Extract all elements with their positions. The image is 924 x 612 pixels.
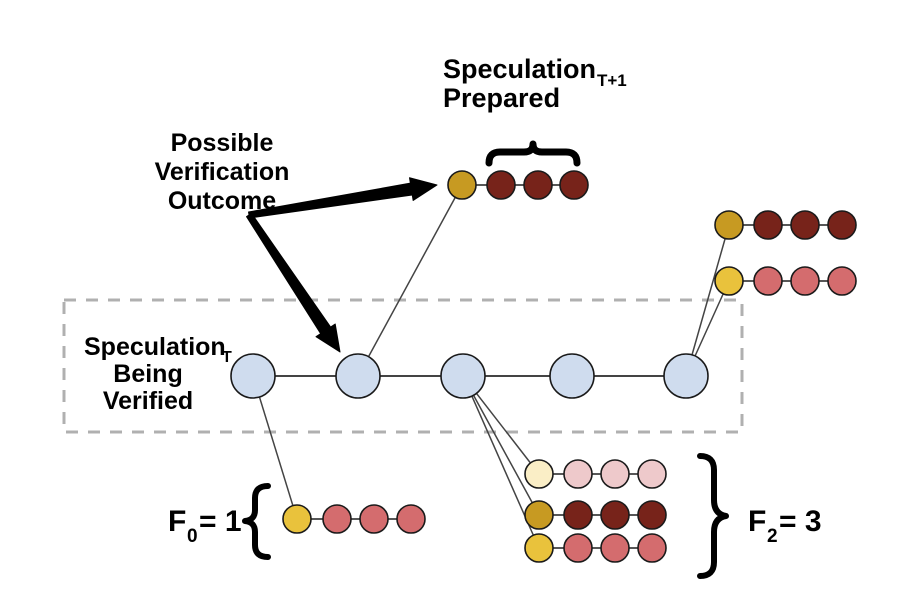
token-node[interactable]	[601, 534, 629, 562]
f0-subscript: 0	[187, 526, 198, 547]
speculation-verified-line3: Verified	[103, 387, 193, 415]
label-possible-verification-outcome: Possible Verification Outcome	[155, 129, 290, 215]
f2-value: = 3	[779, 505, 822, 538]
speculation-prepared-subscript: T+1	[597, 71, 627, 90]
speculative-decoding-tree-diagram: Speculation T+1 Prepared Possible Verifi…	[0, 0, 924, 612]
token-node[interactable]	[397, 505, 425, 533]
token-node[interactable]	[524, 171, 552, 199]
verified-token-node[interactable]	[664, 354, 708, 398]
token-node[interactable]	[638, 534, 666, 562]
token-node[interactable]	[754, 211, 782, 239]
token-node[interactable]	[487, 171, 515, 199]
verified-token-node[interactable]	[336, 354, 380, 398]
possible-outcome-line2: Verification	[155, 158, 290, 186]
token-node[interactable]	[828, 267, 856, 295]
verified-token-node[interactable]	[550, 354, 594, 398]
speculation-verified-line2: Being	[113, 360, 182, 388]
f0-symbol: F	[168, 505, 186, 538]
diagram-canvas: Speculation T+1 Prepared Possible Verifi…	[0, 0, 924, 612]
token-node[interactable]	[564, 501, 592, 529]
token-node-head[interactable]	[715, 267, 743, 295]
token-node[interactable]	[323, 505, 351, 533]
token-node[interactable]	[638, 460, 666, 488]
token-node[interactable]	[601, 460, 629, 488]
token-node[interactable]	[791, 211, 819, 239]
token-node-head[interactable]	[525, 534, 553, 562]
f2-subscript: 2	[767, 526, 778, 547]
speculation-prepared-line2: Prepared	[443, 83, 560, 113]
token-node-head[interactable]	[525, 501, 553, 529]
speculation-prepared-line1: Speculation	[443, 54, 596, 84]
token-node[interactable]	[564, 460, 592, 488]
f2-symbol: F	[748, 505, 766, 538]
speculation-verified-line1: Speculation	[84, 333, 226, 361]
token-node[interactable]	[360, 505, 388, 533]
token-node-head[interactable]	[715, 211, 743, 239]
f0-value: = 1	[199, 505, 242, 538]
token-node[interactable]	[754, 267, 782, 295]
verified-token-node[interactable]	[231, 354, 275, 398]
possible-outcome-line3: Outcome	[168, 187, 276, 215]
token-node[interactable]	[638, 501, 666, 529]
token-node[interactable]	[564, 534, 592, 562]
token-node[interactable]	[828, 211, 856, 239]
possible-outcome-line1: Possible	[171, 129, 274, 157]
token-node-head[interactable]	[448, 171, 476, 199]
token-node[interactable]	[601, 501, 629, 529]
verified-token-node[interactable]	[441, 354, 485, 398]
token-node[interactable]	[791, 267, 819, 295]
speculation-verified-subscript: T	[222, 349, 232, 366]
token-node[interactable]	[560, 171, 588, 199]
token-node-head[interactable]	[283, 505, 311, 533]
token-node-head[interactable]	[525, 460, 553, 488]
